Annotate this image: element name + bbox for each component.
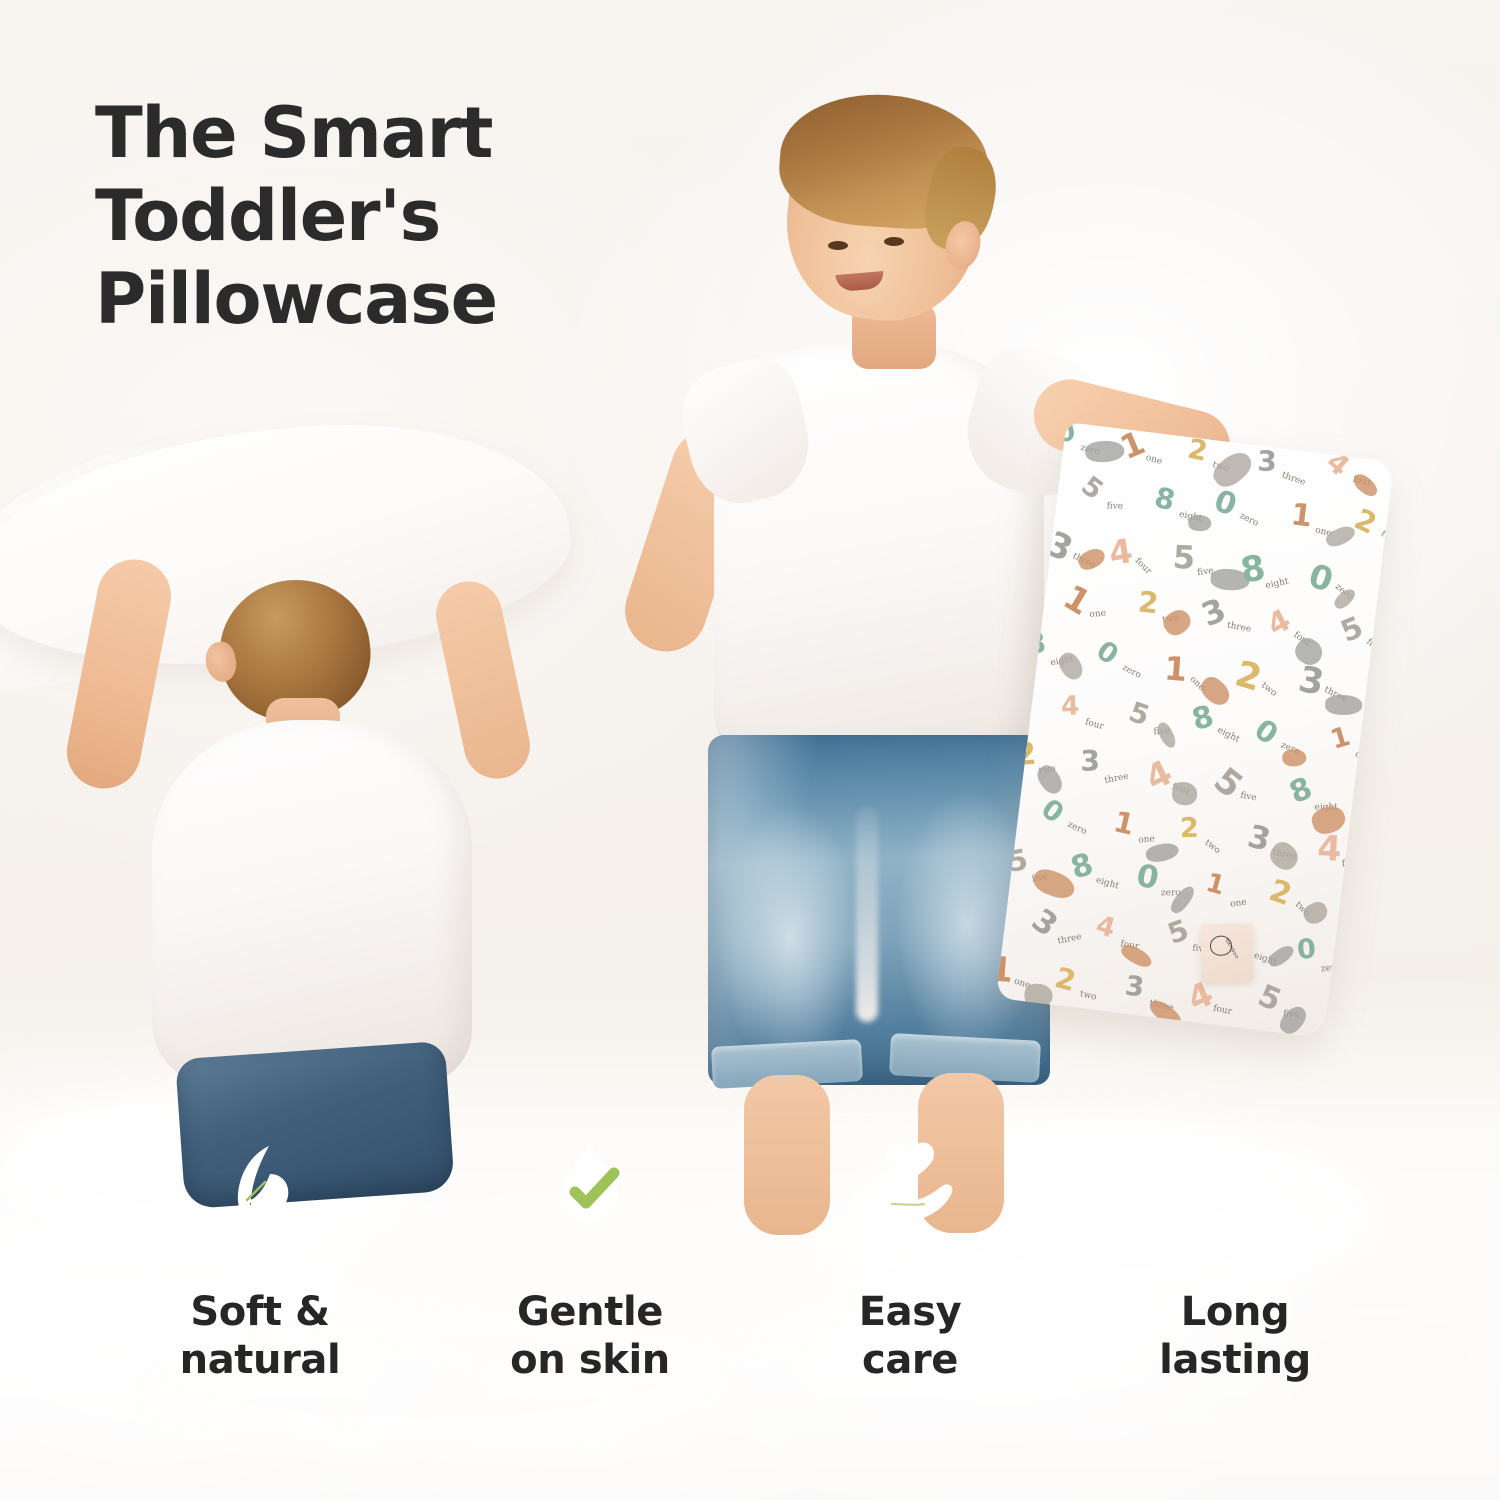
toddler-with-pillow: [30, 430, 590, 1190]
pattern-number-word: zero: [1121, 663, 1143, 681]
pattern-number: 2: [1136, 585, 1160, 621]
feature-easy-care[interactable]: Easy care: [760, 1098, 1060, 1384]
feature-badges-row: Soft & natural Gentle on skin Easy c: [0, 1098, 1500, 1458]
pattern-number: 1: [1203, 867, 1228, 901]
pattern-number-word: four: [1084, 717, 1105, 732]
pattern-number: 0: [1035, 791, 1070, 829]
brand-tag: bamboo: [1201, 923, 1254, 982]
pattern-number: 5: [1163, 913, 1193, 951]
pattern-number: 2: [1179, 812, 1198, 843]
pattern-number: 4: [1106, 531, 1135, 573]
pattern-number-word: two: [1078, 989, 1097, 1002]
boy-denim-shorts: [708, 735, 1050, 1085]
pattern-animal-crocodile: [1282, 749, 1307, 768]
pattern-number-word: eight: [1216, 726, 1241, 745]
pattern-number-word: two: [1202, 837, 1221, 855]
pattern-number: 1: [1289, 497, 1314, 534]
hand-heart-icon: [862, 1134, 958, 1230]
pattern-number: 4: [1317, 828, 1343, 869]
feature-circle: [506, 1098, 674, 1266]
pattern-number: 4: [1092, 910, 1118, 945]
pattern-number-word: one: [1230, 897, 1248, 909]
feature-label: Long lasting: [1085, 1288, 1385, 1384]
pattern-number-word: five: [1240, 791, 1258, 804]
pattern-animal-crocodile: [1075, 545, 1107, 573]
feature-circle: [176, 1098, 344, 1266]
pattern-number-word: eight: [1095, 876, 1120, 892]
feather-icon: [212, 1134, 308, 1230]
pattern-number: 0: [1304, 555, 1338, 599]
pattern-animal-sloth: [1208, 447, 1256, 492]
pattern-number: 1: [1163, 650, 1188, 690]
feature-long-lasting[interactable]: Long lasting: [1085, 1098, 1385, 1384]
pattern-number: 3: [1080, 745, 1100, 778]
pattern-number: 8: [1188, 699, 1217, 738]
pattern-number-word: four: [1212, 1003, 1232, 1016]
pattern-number: 2: [1231, 654, 1267, 700]
pattern-animal-giraffe: [1326, 695, 1363, 715]
pattern-animal-crocodile: [1031, 866, 1078, 903]
pattern-number-word: three: [1104, 772, 1130, 786]
pattern-number: 8: [1151, 480, 1178, 517]
pattern-number-word: three: [1281, 470, 1307, 488]
pattern-number: 5: [1336, 610, 1368, 649]
feature-label: Easy care: [760, 1288, 1060, 1384]
pattern-number: 5: [1172, 538, 1196, 577]
pattern-number-word: five: [1106, 501, 1123, 511]
pattern-number-word: four: [1133, 557, 1153, 577]
feature-circle: [1151, 1098, 1319, 1266]
pattern-number-word: three: [1057, 932, 1083, 947]
feature-gentle-on-skin[interactable]: Gentle on skin: [440, 1098, 740, 1384]
pattern-number: 4: [1060, 690, 1080, 722]
pattern-number-word: zero: [1238, 512, 1260, 530]
pattern-number: 3: [1296, 658, 1328, 703]
pattern-animal-giraffe: [1276, 1002, 1310, 1038]
pattern-animal-sloth: [1054, 649, 1086, 684]
pattern-animal-sloth: [1300, 899, 1330, 927]
feature-circle: [826, 1098, 994, 1266]
pattern-number: 5: [1125, 696, 1154, 733]
boy-eye-right: [884, 237, 904, 246]
pattern-number: 0: [1296, 933, 1318, 966]
droplet-check-icon: [542, 1134, 638, 1230]
pattern-number: 0: [1209, 484, 1241, 524]
pattern-animal-sloth: [1266, 838, 1304, 875]
pattern-number: 0: [1133, 857, 1162, 897]
pattern-number: 5: [1253, 978, 1286, 1018]
pattern-number-word: eight: [1265, 577, 1290, 591]
page-title: The Smart Toddler's Pillowcase: [95, 92, 497, 341]
pattern-number-word: three: [1226, 620, 1252, 635]
pillowcase-fabric: 0zero1one2two3three4four5five8eight0zero…: [996, 422, 1394, 1038]
pattern-number: 1: [1111, 804, 1138, 842]
pattern-number: 8: [1238, 549, 1269, 592]
pattern-number: 2: [1350, 502, 1383, 541]
pattern-number: 0: [1091, 635, 1124, 671]
pattern-number-word: one: [1138, 834, 1155, 845]
pattern-number: 2: [1264, 874, 1295, 914]
pattern-number: 3: [1123, 970, 1145, 1003]
toddler-right-arm: [430, 575, 536, 784]
pattern-animal-crocodile: [1350, 471, 1381, 500]
feature-soft-natural[interactable]: Soft & natural: [110, 1098, 410, 1384]
chain-link-icon: [1187, 1134, 1283, 1230]
toddler-white-tshirt: [152, 720, 472, 1090]
pattern-number-word: one: [1089, 609, 1106, 620]
pattern-number: 8: [1285, 771, 1318, 811]
boy-eye-left: [828, 241, 848, 250]
pattern-animal-crocodile: [1160, 606, 1195, 640]
pattern-animal-sloth: [1171, 781, 1198, 806]
pattern-number: 1: [1327, 720, 1354, 755]
feature-label: Gentle on skin: [440, 1288, 740, 1384]
pattern-number-word: zero: [1066, 819, 1088, 836]
pattern-number-word: one: [1144, 453, 1163, 467]
feature-label: Soft & natural: [110, 1288, 410, 1384]
product-marketing-image: The Smart Toddler's Pillowcase: [0, 0, 1500, 1500]
pattern-number-word: two: [1259, 681, 1278, 699]
pillowcase-pattern: 0zero1one2two3three4four5five8eight0zero…: [996, 422, 1394, 1038]
product-pillowcase: 0zero1one2two3three4four5five8eight0zero…: [996, 422, 1394, 1038]
pattern-animal-giraffe: [1188, 515, 1211, 531]
shorts-inseam: [856, 807, 878, 1022]
pattern-number: 3: [1257, 444, 1277, 477]
pattern-number: 0: [1249, 712, 1285, 751]
pattern-number: 2: [1051, 960, 1079, 998]
pattern-number: 5: [1075, 470, 1109, 506]
